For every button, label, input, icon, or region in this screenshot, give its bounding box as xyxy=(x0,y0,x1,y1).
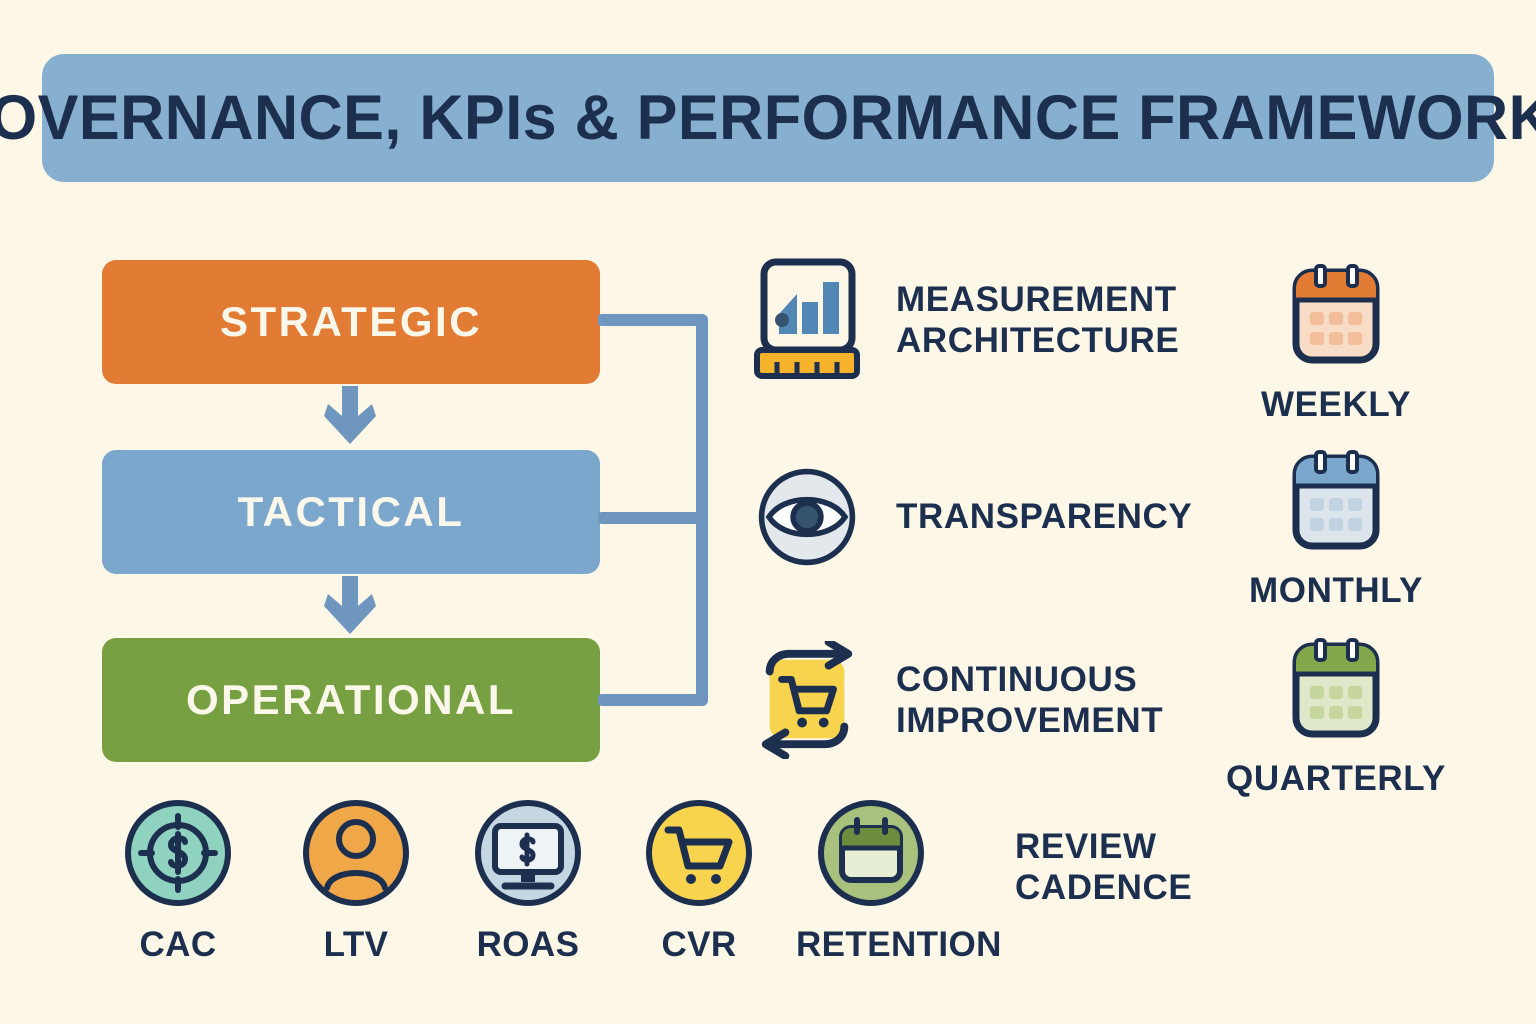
kpi-label: CVR xyxy=(624,925,774,965)
kpi-item-cvr[interactable]: CVR xyxy=(624,798,774,965)
cadence-label: MONTHLY xyxy=(1216,571,1456,611)
principle-row-transparency: TRANSPARENCY xyxy=(752,455,1192,579)
shopping-cart-icon xyxy=(644,798,754,908)
principle-row-continuous-improvement: CONTINUOUS IMPROVEMENT xyxy=(752,638,1163,762)
bar-chart-ruler-icon xyxy=(752,258,862,382)
eye-icon xyxy=(752,455,862,579)
hierarchy-box-label: TACTICAL xyxy=(238,488,465,536)
kpi-item-retention[interactable]: RETENTION xyxy=(796,798,946,965)
arrow-down-icon xyxy=(324,386,376,448)
infographic-canvas: GOVERNANCE, KPIs & PERFORMANCE FRAMEWORK… xyxy=(0,0,1536,1024)
kpi-item-ltv[interactable]: LTV xyxy=(281,798,431,965)
monitor-dollar-icon xyxy=(473,798,583,908)
kpi-label: RETENTION xyxy=(796,925,946,965)
cadence-item-weekly[interactable]: WEEKLY xyxy=(1216,262,1456,425)
principle-label: TRANSPARENCY xyxy=(896,496,1192,537)
kpi-label: ROAS xyxy=(453,925,603,965)
bracket-connector xyxy=(598,300,724,720)
arrow-down-icon xyxy=(324,576,376,638)
cadence-label: WEEKLY xyxy=(1216,385,1456,425)
calendar-icon xyxy=(1284,262,1388,370)
principle-label: MEASUREMENT ARCHITECTURE xyxy=(896,279,1179,362)
cadence-item-monthly[interactable]: MONTHLY xyxy=(1216,448,1456,611)
cadence-label: QUARTERLY xyxy=(1216,759,1456,799)
dollar-target-icon xyxy=(123,798,233,908)
cadence-item-quarterly[interactable]: QUARTERLY xyxy=(1216,636,1456,799)
calendar-icon xyxy=(1284,636,1388,744)
calendar-icon xyxy=(816,798,926,908)
person-icon xyxy=(301,798,411,908)
kpi-label: LTV xyxy=(281,925,431,965)
principle-label: CONTINUOUS IMPROVEMENT xyxy=(896,659,1163,742)
hierarchy-box-strategic[interactable]: STRATEGIC xyxy=(102,260,600,384)
cart-refresh-icon xyxy=(752,638,862,762)
page-title: GOVERNANCE, KPIs & PERFORMANCE FRAMEWORK… xyxy=(0,82,1536,154)
title-banner: GOVERNANCE, KPIs & PERFORMANCE FRAMEWORK… xyxy=(42,54,1494,182)
hierarchy-box-label: OPERATIONAL xyxy=(186,676,516,724)
kpi-label: CAC xyxy=(103,925,253,965)
principle-row-measurement: MEASUREMENT ARCHITECTURE xyxy=(752,258,1179,382)
kpi-item-cac[interactable]: CAC xyxy=(103,798,253,965)
kpi-item-roas[interactable]: ROAS xyxy=(453,798,603,965)
calendar-icon xyxy=(1284,448,1388,556)
hierarchy-box-operational[interactable]: OPERATIONAL xyxy=(102,638,600,762)
hierarchy-box-label: STRATEGIC xyxy=(220,298,482,346)
review-cadence-caption: REVIEW CADENCE xyxy=(1015,826,1192,909)
hierarchy-box-tactical[interactable]: TACTICAL xyxy=(102,450,600,574)
